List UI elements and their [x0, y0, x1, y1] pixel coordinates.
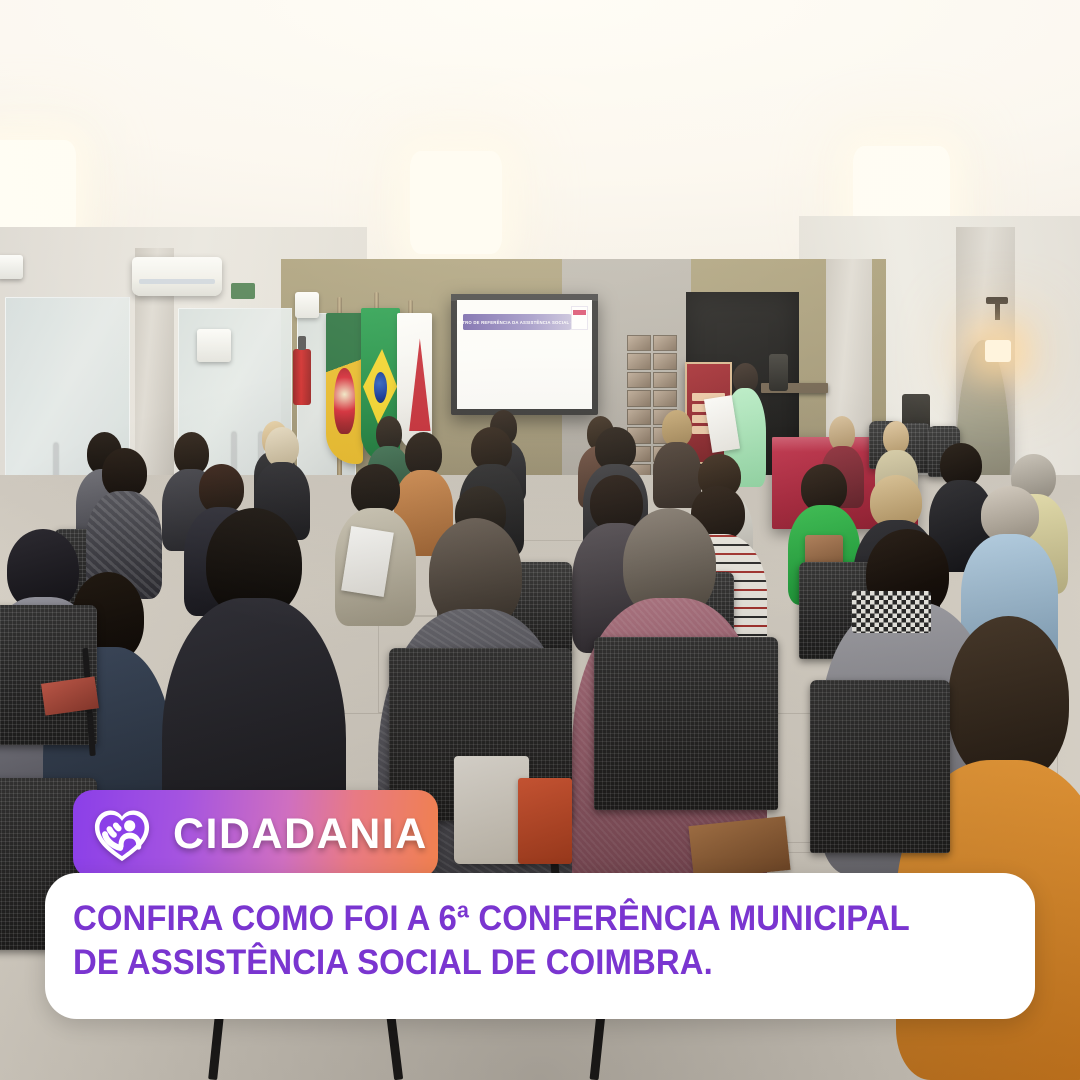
- slide-header-text: CENTRO DE REFERÊNCIA DA ASSISTÊNCIA SOCI…: [457, 320, 586, 325]
- wall-speaker-icon: [295, 292, 319, 318]
- heart-hand-person-icon: [93, 806, 151, 862]
- projection-screen: CENTRO DE REFERÊNCIA DA ASSISTÊNCIA SOCI…: [457, 300, 592, 409]
- instagram-post-card: CENTRO DE REFERÊNCIA DA ASSISTÊNCIA SOCI…: [0, 0, 1080, 1080]
- badge-label: CIDADANIA: [173, 813, 428, 856]
- projection-screen-frame: CENTRO DE REFERÊNCIA DA ASSISTÊNCIA SOCI…: [451, 294, 598, 415]
- fire-extinguisher-icon: [293, 349, 311, 405]
- audience-chair: [594, 637, 778, 810]
- ceiling-light-panel: [0, 140, 76, 237]
- caption-card: CONFIRA COMO FOI A 6ª CONFERÊNCIA MUNICI…: [45, 873, 1035, 1019]
- wall-speaker-icon: [197, 329, 232, 361]
- audience-chair: [0, 605, 97, 745]
- audience-chair: [810, 680, 950, 853]
- ceiling-light-panel: [410, 151, 502, 254]
- slide-header-bar: CENTRO DE REFERÊNCIA DA ASSISTÊNCIA SOCI…: [463, 314, 576, 330]
- wall-sconce-arm: [986, 297, 1008, 304]
- exit-sign-icon: [231, 283, 255, 299]
- cidadania-badge: CIDADANIA: [73, 790, 438, 878]
- flag-municipal-coimbra: [326, 313, 363, 464]
- caption-headline: CONFIRA COMO FOI A 6ª CONFERÊNCIA MUNICI…: [73, 897, 949, 985]
- air-conditioner-icon: [132, 257, 223, 296]
- floor-speaker-icon: [769, 354, 788, 391]
- head: [948, 616, 1069, 783]
- wall-speaker-icon: [0, 255, 23, 279]
- tote-bag: [518, 778, 572, 864]
- wall-sconce-light: [985, 340, 1011, 362]
- slide-logo: [571, 306, 589, 330]
- brochure: [689, 816, 791, 880]
